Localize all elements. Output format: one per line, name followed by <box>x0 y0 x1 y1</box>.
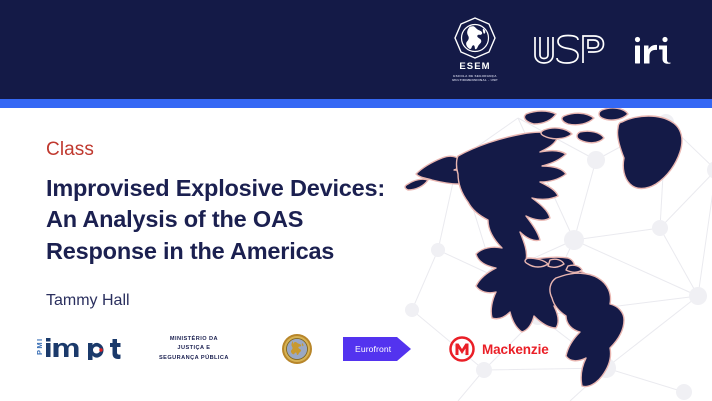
esem-logo: ESEM ESCOLA DE SEGURANÇA MULTIDIMENSIONA… <box>444 16 506 83</box>
accent-stripe <box>0 99 712 108</box>
eurofront-wordmark: Eurofront <box>355 344 391 354</box>
oas-seal-logo <box>281 333 313 365</box>
header-logo-group: ESEM ESCOLA DE SEGURANÇA MULTIDIMENSIONA… <box>444 0 674 99</box>
esem-globe-icon <box>452 16 498 60</box>
esem-wordmark: ESEM <box>459 62 490 72</box>
mackenzie-logo: Mackenzie <box>449 336 549 362</box>
presentation-slide: ESEM ESCOLA DE SEGURANÇA MULTIDIMENSIONA… <box>0 0 712 401</box>
author-name: Tammy Hall <box>46 293 446 309</box>
slide-content: Class Improvised Explosive Devices: An A… <box>46 140 446 309</box>
eurofront-logo: Eurofront <box>343 337 411 361</box>
impact-wordmark <box>45 338 123 360</box>
iri-logo <box>632 33 674 67</box>
page-title: Improvised Explosive Devices: An Analysi… <box>46 173 446 267</box>
usp-logo <box>532 33 606 67</box>
esem-subtitle: ESCOLA DE SEGURANÇA MULTIDIMENSIONAL - U… <box>452 74 497 83</box>
pmi-vertical-label: PMI <box>35 344 44 355</box>
ministry-of-justice-logo: MINISTÉRIO DA JUSTIÇA E SEGURANÇA PÚBLIC… <box>159 335 251 363</box>
sponsor-logo-row: PMI MINISTÉRIO DA JUSTIÇA E SEGURANÇA PÚ… <box>34 327 549 371</box>
class-kicker-label: Class <box>46 140 446 159</box>
mackenzie-monogram-icon <box>449 336 475 362</box>
pmi-impact-logo: PMI <box>34 338 123 360</box>
mackenzie-wordmark: Mackenzie <box>482 342 549 357</box>
